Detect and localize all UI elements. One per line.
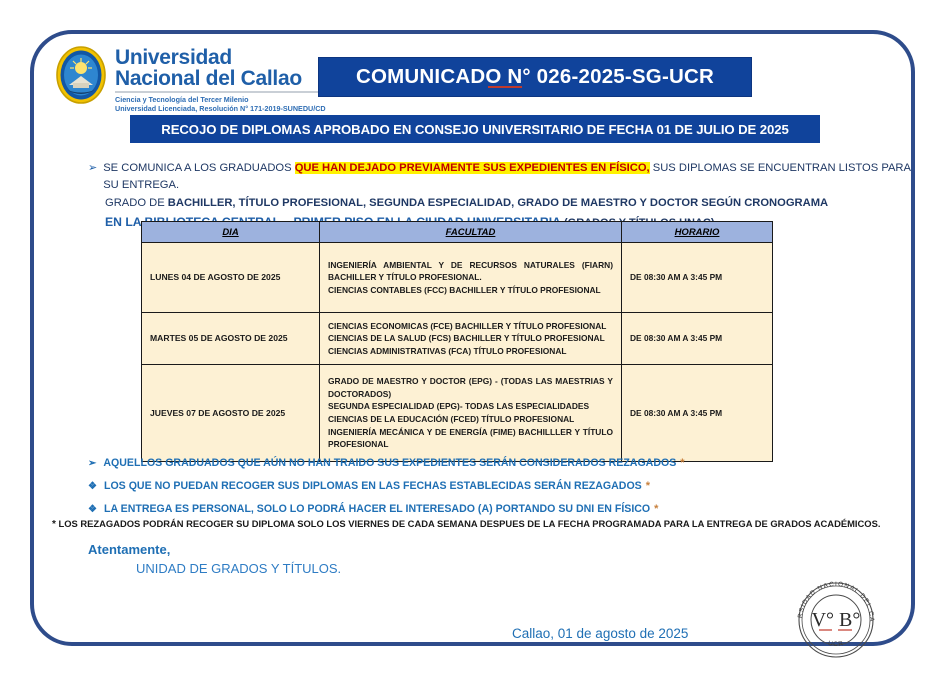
intro-line1-wrap: SE COMUNICA A LOS GRADUADOS QUE HAN DEJA… [103, 160, 918, 195]
university-name: Universidad Nacional del Callao Ciencia … [115, 45, 326, 113]
communique-title-text: COMUNICADO N° 026-2025-SG-UCR [356, 65, 714, 89]
communique-subtitle-text: RECOJO DE DIPLOMAS APROBADO EN CONSEJO U… [161, 122, 788, 137]
unac-shield-icon [55, 45, 107, 105]
intro-line2-part-a: GRADO DE [105, 197, 168, 209]
cell-horario: DE 08:30 AM A 3:45 PM [622, 243, 773, 313]
list-item: ❖ LA ENTREGA ES PERSONAL, SOLO LO PODRÁ … [88, 504, 918, 515]
signature-unit: UNIDAD DE GRADOS Y TÍTULOS. [136, 561, 341, 576]
university-tagline2: Universidad Licenciada, Resolución N° 17… [115, 104, 326, 113]
table-row: MARTES 05 DE AGOSTO DE 2025 CIENCIAS ECO… [142, 313, 773, 365]
signature-closing: Atentamente, [88, 542, 341, 557]
cell-dia: JUEVES 07 DE AGOSTO DE 2025 [142, 365, 320, 462]
diamond-bullet-icon: ❖ [88, 482, 97, 492]
cell-horario: DE 08:30 AM A 3:45 PM [622, 313, 773, 365]
schedule-table-body: LUNES 04 DE AGOSTO DE 2025 INGENIERÍA AM… [142, 243, 773, 462]
asterisk-icon: * [654, 504, 658, 515]
diamond-bullet-icon: ❖ [88, 505, 97, 515]
signature-block: Atentamente, UNIDAD DE GRADOS Y TÍTULOS. [88, 542, 341, 576]
university-line1: Universidad [115, 47, 326, 68]
intro-line2-part-b: BACHILLER, TÍTULO PROFESIONAL, SEGUNDA E… [168, 197, 828, 209]
intro-line1-highlight: QUE HAN DEJADO PREVIAMENTE SUS EXPEDIENT… [295, 162, 650, 174]
university-tagline1: Ciencia y Tecnología del Tercer Milenio [115, 95, 326, 104]
schedule-table: DIA FACULTAD HORARIO LUNES 04 DE AGOSTO … [141, 221, 773, 462]
table-row: JUEVES 07 DE AGOSTO DE 2025 GRADO DE MAE… [142, 365, 773, 462]
intro-line1-part-a: SE COMUNICA A LOS GRADUADOS [103, 162, 294, 174]
footnote-text: LOS REZAGADOS PODRÁN RECOGER SU DIPLOMA … [59, 518, 881, 529]
cell-dia: MARTES 05 DE AGOSTO DE 2025 [142, 313, 320, 365]
intro-line-2: GRADO DE BACHILLER, TÍTULO PROFESIONAL, … [105, 195, 918, 213]
intro-line-1: ➢ SE COMUNICA A LOS GRADUADOS QUE HAN DE… [88, 160, 918, 195]
arrow-bullet-icon: ➢ [88, 459, 96, 469]
arrow-bullet-icon: ➢ [88, 160, 97, 177]
cell-dia: LUNES 04 DE AGOSTO DE 2025 [142, 243, 320, 313]
date-line: Callao, 01 de agosto de 2025 [512, 626, 688, 641]
table-header-row: DIA FACULTAD HORARIO [142, 222, 773, 243]
footnote: * LOS REZAGADOS PODRÁN RECOGER SU DIPLOM… [52, 518, 932, 530]
column-header-dia: DIA [142, 222, 320, 243]
list-item: ❖ LOS QUE NO PUEDAN RECOGER SUS DIPLOMAS… [88, 481, 918, 492]
column-header-facultad: FACULTAD [320, 222, 622, 243]
table-row: LUNES 04 DE AGOSTO DE 2025 INGENIERÍA AM… [142, 243, 773, 313]
column-header-horario: HORARIO [622, 222, 773, 243]
asterisk-icon: * [646, 481, 650, 492]
asterisk-icon: * [52, 519, 56, 530]
cell-facultad: CIENCIAS ECONOMICAS (FCE) BACHILLER Y TÍ… [320, 313, 622, 365]
list-item-label: AQUELLOS GRADUADOS QUE AÚN NO HAN TRAIDO… [103, 458, 676, 469]
university-line2: Nacional del Callao [115, 68, 326, 93]
svg-text:UCR: UCR [827, 640, 844, 648]
communique-subtitle-banner: RECOJO DE DIPLOMAS APROBADO EN CONSEJO U… [130, 115, 820, 143]
cell-facultad: GRADO DE MAESTRO Y DOCTOR (EPG) - (TODAS… [320, 365, 622, 462]
svg-text:V° B°: V° B° [812, 609, 861, 631]
cell-horario: DE 08:30 AM A 3:45 PM [622, 365, 773, 462]
cell-facultad: INGENIERÍA AMBIENTAL Y DE RECURSOS NATUR… [320, 243, 622, 313]
asterisk-icon: * [680, 458, 684, 469]
university-logo-block: Universidad Nacional del Callao Ciencia … [55, 45, 326, 113]
notes-bullet-list: ➢ AQUELLOS GRADUADOS QUE AÚN NO HAN TRAI… [88, 458, 918, 527]
list-item-label: LA ENTREGA ES PERSONAL, SOLO LO PODRÁ HA… [104, 504, 650, 515]
list-item: ➢ AQUELLOS GRADUADOS QUE AÚN NO HAN TRAI… [88, 458, 918, 469]
visto-bueno-seal-icon: UNIVERSIDAD NACIONAL DEL CALLAO UCR V° B… [788, 572, 884, 668]
list-item-label: LOS QUE NO PUEDAN RECOGER SUS DIPLOMAS E… [104, 481, 642, 492]
communique-title-banner: COMUNICADO N° 026-2025-SG-UCR [318, 57, 752, 97]
